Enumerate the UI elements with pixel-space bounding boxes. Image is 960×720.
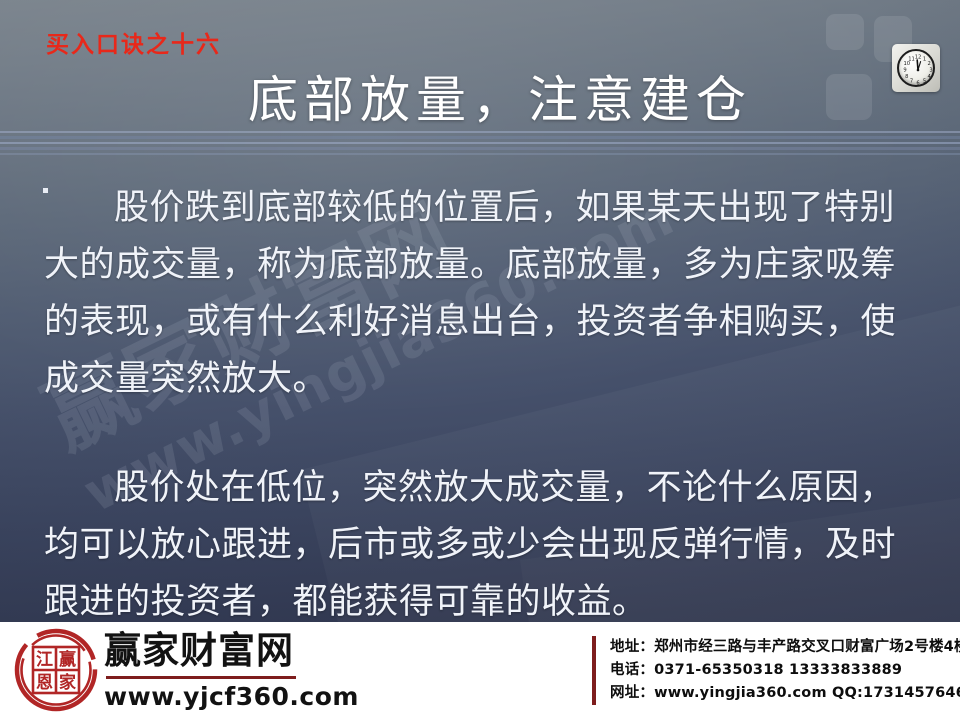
- header-divider-line-5: [0, 153, 960, 155]
- brand-website: www.yjcf360.com: [104, 682, 359, 711]
- header-divider-line-2: [0, 136, 960, 139]
- contact-website: 网址：www.yingjia360.com QQ:1731457646: [610, 682, 960, 705]
- svg-text:恩: 恩: [36, 673, 53, 693]
- svg-text:江: 江: [36, 650, 53, 670]
- header-divider-line-3: [0, 142, 960, 144]
- decorative-square-1: [826, 14, 864, 50]
- contact-block: 地址：郑州市经三路与丰产路交叉口财富广场2号楼4楼C户 电话：0371-6535…: [592, 636, 960, 705]
- svg-text:赢: 赢: [59, 649, 76, 670]
- svg-text:家: 家: [59, 672, 76, 693]
- brand-name: 赢家财富网: [104, 630, 359, 672]
- footer-bar: 江 赢 恩 家 赢家财富网 www.yjcf360.com 地址：郑州市经三路与…: [0, 622, 960, 720]
- page-title: 底部放量，注意建仓: [0, 60, 960, 132]
- header-divider-line-4: [0, 147, 960, 150]
- slide-body: 股价跌到底部较低的位置后，如果某天出现了特别大的成交量，称为底部放量。底部放量，…: [44, 180, 924, 631]
- company-seal-logo: 江 赢 恩 家: [12, 626, 100, 714]
- brand-underline: [106, 676, 296, 679]
- slide-kicker: 买入口诀之十六: [46, 25, 221, 59]
- body-paragraph-2: 股价处在低位，突然放大成交量，不论什么原因，均可以放心跟进，后市或多或少会出现反…: [44, 460, 924, 631]
- brand-block: 赢家财富网 www.yjcf360.com: [104, 630, 359, 711]
- contact-phone: 电话：0371-65350318 13333833889: [610, 659, 960, 682]
- contact-address: 地址：郑州市经三路与丰产路交叉口财富广场2号楼4楼C户: [610, 636, 960, 659]
- body-paragraph-1: 股价跌到底部较低的位置后，如果某天出现了特别大的成交量，称为底部放量。底部放量，…: [44, 180, 924, 408]
- presentation-slide: 赢家财富网 www.yingjia360.com 12 1 2 3 4 5 6 …: [0, 0, 960, 720]
